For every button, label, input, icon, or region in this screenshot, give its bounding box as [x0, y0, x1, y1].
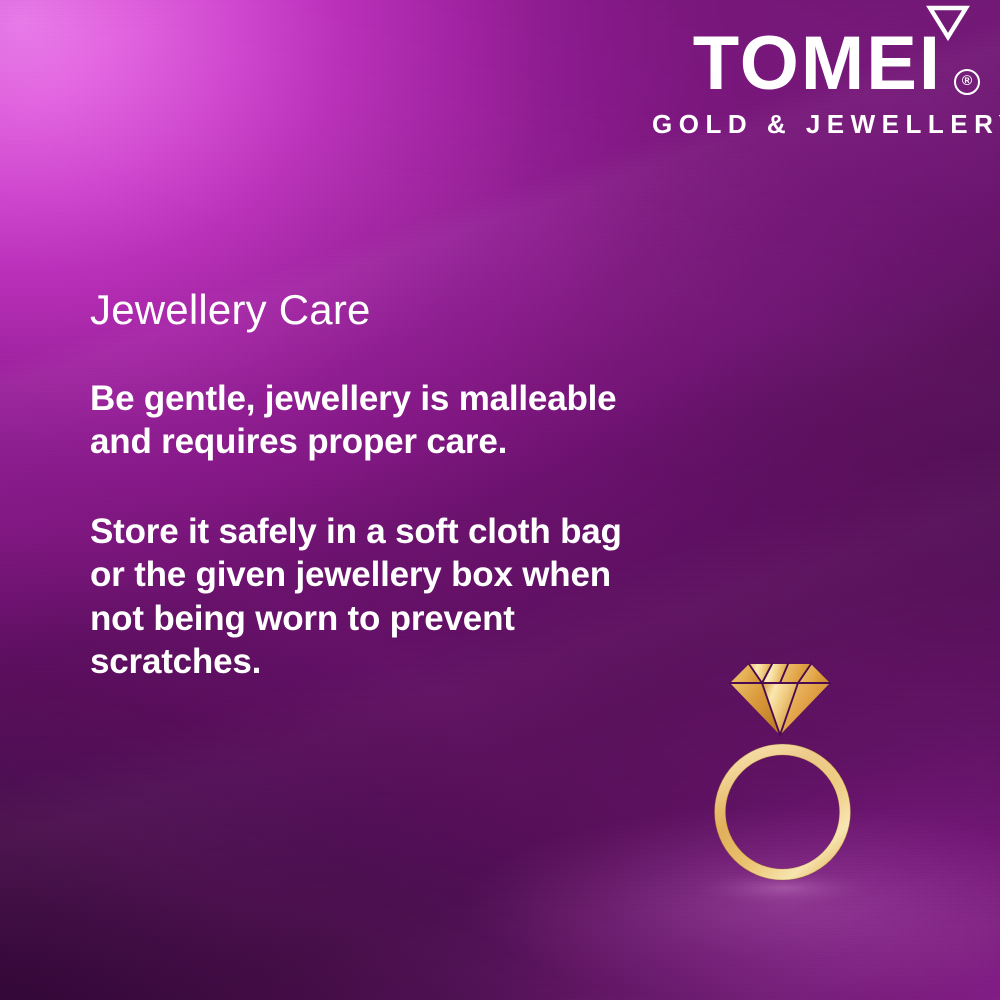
copy-block: Jewellery Care Be gentle, jewellery is m…: [90, 286, 650, 683]
brand-tagline: GOLD & JEWELLERY: [652, 109, 982, 140]
promo-graphic: TOMEI ® GOLD & JEWELLERY Jewellery Care …: [0, 0, 1000, 1000]
care-tip-paragraph-2: Store it safely in a soft cloth bag or t…: [90, 510, 650, 684]
brand-wordmark: TOMEI ®: [652, 28, 982, 101]
diamond-ring-illustration: [700, 650, 880, 910]
brand-logo: TOMEI ® GOLD & JEWELLERY: [652, 0, 982, 140]
ring-band-icon: [700, 730, 880, 910]
brand-wordmark-text: TOMEI: [693, 21, 942, 106]
diamond-gem-icon: [730, 664, 830, 735]
care-tip-paragraph-1: Be gentle, jewellery is malleable and re…: [90, 377, 650, 464]
page-title: Jewellery Care: [90, 286, 650, 333]
registered-trademark-icon: ®: [954, 69, 980, 95]
